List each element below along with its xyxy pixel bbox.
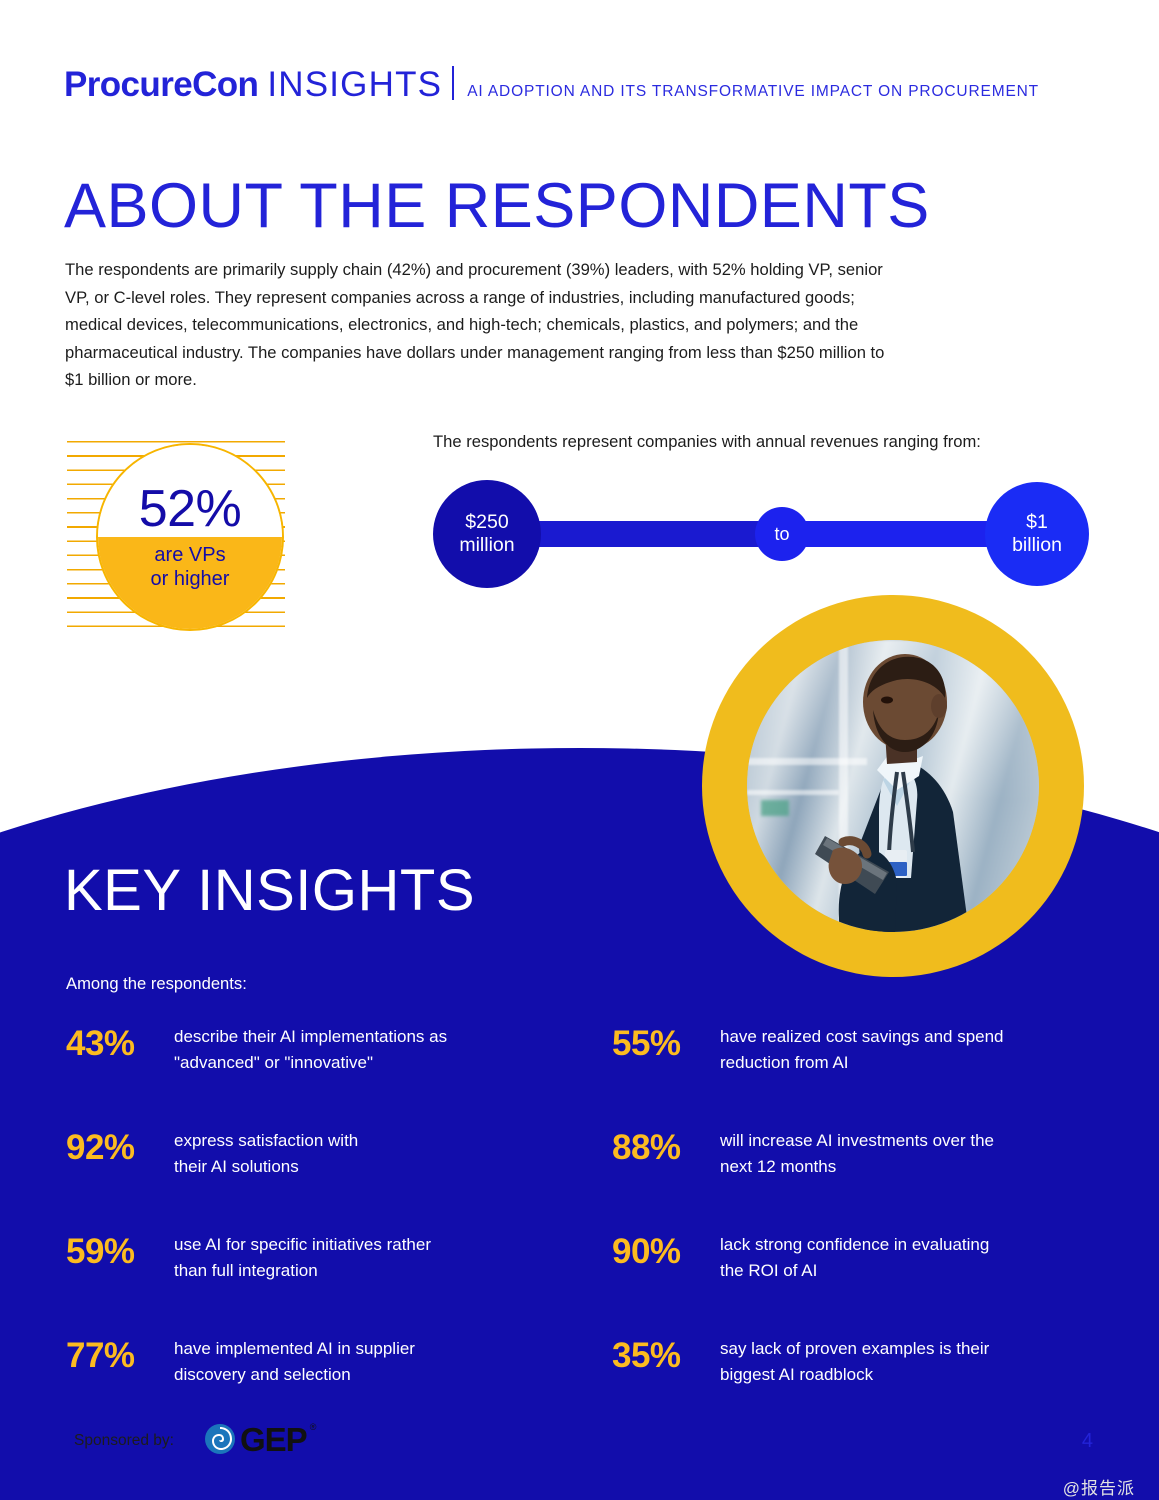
about-section-title: ABOUT THE RESPONDENTS [64,175,930,238]
stat-description-line2: reduction from AI [720,1053,849,1072]
header-subtitle: AI ADOPTION AND ITS TRANSFORMATIVE IMPAC… [467,83,1039,101]
revenue-node-start-label: $250 million [459,511,514,557]
stat-description: say lack of proven examples is their big… [720,1334,989,1388]
stat-description-line1: lack strong confidence in evaluating [720,1235,989,1254]
gep-swirl-icon [203,1422,237,1456]
stat-item: 92% express satisfaction with their AI s… [66,1126,550,1180]
vp-stat-caption: are VPs or higher [151,543,230,591]
stat-percentage: 88% [612,1126,706,1170]
stat-description-line1: express satisfaction with [174,1131,358,1150]
stat-description-line1: have realized cost savings and spend [720,1027,1004,1046]
key-insights-intro: Among the respondents: [66,974,247,994]
revenue-node-end-label: $1 billion [1012,511,1062,557]
revenue-range-diagram: $250 million to $1 billion [433,480,1093,590]
stat-item: 55% have realized cost savings and spend… [612,1022,1096,1076]
stat-description: will increase AI investments over the ne… [720,1126,994,1180]
stat-item: 88% will increase AI investments over th… [612,1126,1096,1180]
vp-stat-value: 52% [139,482,242,537]
stat-description-line2: the ROI of AI [720,1261,817,1280]
key-insights-title: KEY INSIGHTS [64,862,475,920]
gep-wordmark: GEP [240,1423,307,1456]
brand-procurecon: ProcureCon [64,65,258,105]
watermark: @报告派 [1063,1474,1135,1499]
revenue-node-middle-label: to [774,523,789,546]
stat-description-line1: describe their AI implementations as [174,1027,447,1046]
stat-description-line2: biggest AI roadblock [720,1365,873,1384]
stat-percentage: 59% [66,1230,160,1274]
stat-description-line2: next 12 months [720,1157,836,1176]
vp-stat-circle-bottom: are VPs or higher [98,537,282,629]
page-header: ProcureCon INSIGHTS AI ADOPTION AND ITS … [64,62,1039,105]
brand-insights: INSIGHTS [267,65,442,105]
stat-description-line1: will increase AI investments over the [720,1131,994,1150]
photo-person-figure [747,640,1039,932]
key-insights-stats-grid: 43% describe their AI implementations as… [66,1022,1096,1388]
revenue-start-line2: million [459,534,514,556]
stat-description-line1: use AI for specific initiatives rather [174,1235,431,1254]
stat-description-line2: their AI solutions [174,1157,299,1176]
stat-description-line2: than full integration [174,1261,318,1280]
revenue-start-line1: $250 [465,511,508,533]
infographic-page: ProcureCon INSIGHTS AI ADOPTION AND ITS … [0,0,1159,1500]
sponsored-by-label: Sponsored by: [74,1432,174,1450]
revenue-range-label: The respondents represent companies with… [433,432,981,452]
revenue-end-line2: billion [1012,534,1062,556]
vp-stat-circle: 52% are VPs or higher [96,443,284,631]
revenue-node-middle: to [755,507,809,561]
stat-description-line1: say lack of proven examples is their [720,1339,989,1358]
revenue-node-end: $1 billion [985,482,1089,586]
gep-logo: GEP ® [203,1422,316,1456]
stat-percentage: 92% [66,1126,160,1170]
stat-item: 43% describe their AI implementations as… [66,1022,550,1076]
stat-description-line1: have implemented AI in supplier [174,1339,415,1358]
stat-item: 35% say lack of proven examples is their… [612,1334,1096,1388]
revenue-node-start: $250 million [433,480,541,588]
stat-description: have realized cost savings and spend red… [720,1022,1004,1076]
stat-percentage: 77% [66,1334,160,1378]
stat-percentage: 43% [66,1022,160,1066]
stat-percentage: 90% [612,1230,706,1274]
stats-column-right: 55% have realized cost savings and spend… [612,1022,1096,1388]
stat-description-line2: "advanced" or "innovative" [174,1053,373,1072]
about-section-body: The respondents are primarily supply cha… [65,256,885,394]
stat-item: 59% use AI for specific initiatives rath… [66,1230,550,1284]
stat-description: use AI for specific initiatives rather t… [174,1230,431,1284]
vp-stat-circle-top: 52% [98,445,282,537]
stat-description-line2: discovery and selection [174,1365,351,1384]
revenue-end-line1: $1 [1026,511,1048,533]
stat-description: lack strong confidence in evaluating the… [720,1230,989,1284]
stat-percentage: 55% [612,1022,706,1066]
page-footer: Sponsored by: GEP ® 4 @报告派 [0,1420,1159,1500]
stat-description: express satisfaction with their AI solut… [174,1126,358,1180]
header-divider-line [452,66,454,100]
vp-stat-caption-line2: or higher [151,568,230,590]
page-number: 4 [1082,1430,1093,1453]
stat-description: describe their AI implementations as "ad… [174,1022,447,1076]
stat-percentage: 35% [612,1334,706,1378]
vp-stat-caption-line1: are VPs [154,544,225,566]
stats-column-left: 43% describe their AI implementations as… [66,1022,550,1388]
stat-item: 77% have implemented AI in supplier disc… [66,1334,550,1388]
photo-gold-ring [702,595,1084,977]
photo-circle [747,640,1039,932]
stat-item: 90% lack strong confidence in evaluating… [612,1230,1096,1284]
stat-description: have implemented AI in supplier discover… [174,1334,415,1388]
gep-registered-mark: ® [310,1422,317,1432]
